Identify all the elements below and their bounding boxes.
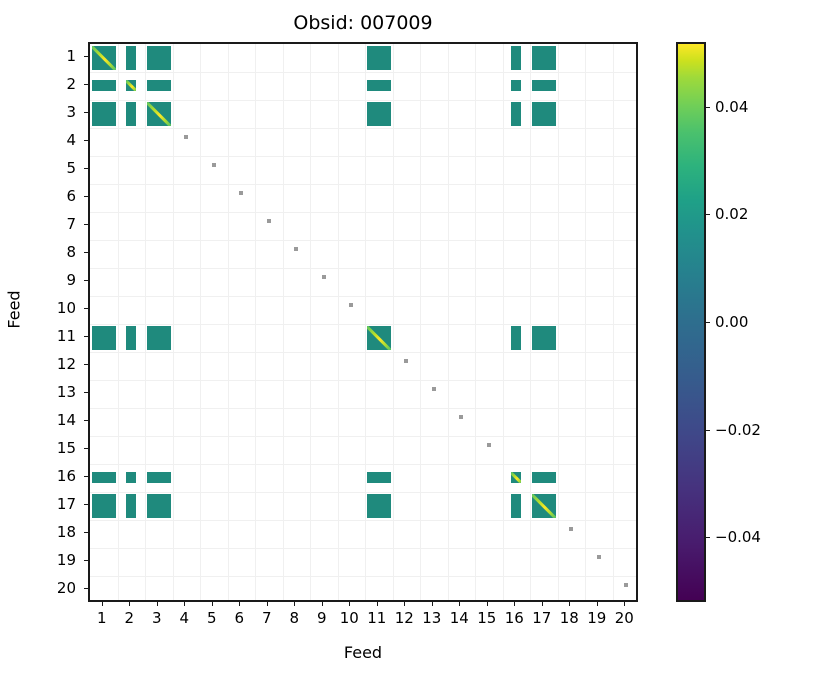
x-tick-label: 14 [450,609,469,627]
y-tick-label: 13 [26,383,76,401]
x-tick-mark [542,602,543,606]
matrix-cell [147,494,171,519]
matrix-cell-diagonal-small [432,387,436,391]
gridline-horizontal [90,296,636,297]
gridline-horizontal [90,548,636,549]
matrix-cell-diagonal-small [239,191,243,195]
y-tick-label: 14 [26,411,76,429]
gridline-horizontal [90,156,636,157]
colorbar-tick-mark [706,214,710,215]
x-tick-label: 6 [234,609,244,627]
x-tick-label: 11 [367,609,386,627]
x-tick-mark [377,602,378,606]
x-tick-mark [239,602,240,606]
x-tick-mark [294,602,295,606]
x-tick-label: 16 [505,609,524,627]
y-tick-label: 1 [26,47,76,65]
matrix-cell-diagonal-small [569,527,573,531]
matrix-cell-diagonal-small [267,219,271,223]
matrix-cell [92,80,116,91]
y-tick-mark [84,364,88,365]
gridline-horizontal [90,184,636,185]
y-tick-label: 16 [26,467,76,485]
x-tick-label: 15 [477,609,496,627]
matrix-cell-diagonal [367,326,391,351]
y-tick-mark [84,280,88,281]
matrix-cell [92,326,116,351]
matrix-cell-diagonal [92,46,116,71]
y-tick-mark [84,392,88,393]
y-tick-label: 19 [26,551,76,569]
matrix-cell [511,102,521,127]
x-tick-mark [514,602,515,606]
matrix-cell [367,46,391,71]
gridline-vertical [420,44,421,600]
gridline-vertical [585,44,586,600]
matrix-cell [367,80,391,91]
y-tick-mark [84,504,88,505]
figure-canvas: Obsid: 007009 12345678910111213141516171… [0,0,825,678]
matrix-cell [532,102,556,127]
x-tick-label: 19 [587,609,606,627]
y-tick-mark [84,420,88,421]
matrix-cell-diagonal-small [212,163,216,167]
x-tick-label: 12 [395,609,414,627]
gridline-vertical [393,44,394,600]
matrix-cell [147,46,171,71]
matrix-cell-diagonal [511,472,521,483]
y-tick-label: 2 [26,75,76,93]
gridline-vertical [338,44,339,600]
matrix-cell-diagonal-small [404,359,408,363]
matrix-cell [532,80,556,91]
y-tick-mark [84,112,88,113]
gridline-horizontal [90,240,636,241]
y-tick-mark [84,140,88,141]
gridline-vertical [255,44,256,600]
y-tick-label: 17 [26,495,76,513]
y-tick-mark [84,252,88,253]
colorbar-tick-mark [706,430,710,431]
gridline-horizontal [90,520,636,521]
page-title: Obsid: 007009 [88,12,638,34]
x-tick-mark [349,602,350,606]
matrix-cell-diagonal-small [624,583,628,587]
gridline-vertical [228,44,229,600]
colorbar-tick-label: −0.02 [715,421,761,439]
y-tick-mark [84,308,88,309]
y-tick-label: 18 [26,523,76,541]
x-tick-label: 1 [97,609,107,627]
gridline-vertical [475,44,476,600]
y-tick-label: 20 [26,579,76,597]
matrix-cell [511,46,521,71]
gridline-vertical [558,44,559,600]
matrix-cell [92,494,116,519]
matrix-cell-diagonal-small [184,135,188,139]
gridline-vertical [448,44,449,600]
y-tick-mark [84,560,88,561]
x-tick-mark [267,602,268,606]
gridline-horizontal [90,576,636,577]
x-tick-label: 17 [532,609,551,627]
matrix-cell [367,102,391,127]
matrix-cell [147,326,171,351]
matrix-cell [367,494,391,519]
y-tick-mark [84,532,88,533]
y-tick-label: 8 [26,243,76,261]
gridline-horizontal [90,128,636,129]
matrix-cell [532,46,556,71]
matrix-cell [126,326,136,351]
self-correlation-diagonal [511,472,521,483]
matrix-cell [126,102,136,127]
x-tick-mark [184,602,185,606]
y-tick-label: 6 [26,187,76,205]
matrix-cell-diagonal-small [294,247,298,251]
gridline-horizontal [90,436,636,437]
y-tick-label: 12 [26,355,76,373]
x-tick-label: 4 [179,609,189,627]
colorbar-tick-mark [706,322,710,323]
self-correlation-diagonal [147,102,171,127]
y-tick-label: 3 [26,103,76,121]
self-correlation-diagonal [532,494,556,519]
self-correlation-diagonal [126,80,136,91]
x-tick-label: 18 [560,609,579,627]
colorbar-tick-label: 0.00 [715,313,748,331]
y-tick-mark [84,476,88,477]
y-axis-label: Feed [5,260,24,360]
matrix-cell [126,46,136,71]
x-tick-mark [157,602,158,606]
x-tick-label: 20 [615,609,634,627]
self-correlation-diagonal [367,326,391,351]
matrix-cell [92,102,116,127]
matrix-cell-diagonal-small [349,303,353,307]
y-tick-mark [84,224,88,225]
gridline-horizontal [90,408,636,409]
x-tick-label: 9 [317,609,327,627]
x-tick-label: 13 [422,609,441,627]
correlation-matrix-plot[interactable] [88,42,638,602]
matrix-cell-diagonal [126,80,136,91]
x-tick-mark [597,602,598,606]
colorbar[interactable] [676,42,706,602]
matrix-cell-diagonal-small [322,275,326,279]
y-tick-mark [84,56,88,57]
x-tick-label: 5 [207,609,217,627]
y-tick-mark [84,336,88,337]
matrix-cell-diagonal [147,102,171,127]
gridline-vertical [310,44,311,600]
gridline-horizontal [90,380,636,381]
y-tick-mark [84,196,88,197]
gridline-horizontal [90,352,636,353]
x-tick-mark [212,602,213,606]
matrix-cell [367,472,391,483]
y-tick-label: 5 [26,159,76,177]
matrix-cell [511,494,521,519]
y-tick-mark [84,168,88,169]
gridline-vertical [283,44,284,600]
x-tick-mark [102,602,103,606]
x-tick-mark [129,602,130,606]
y-tick-label: 4 [26,131,76,149]
matrix-cell-diagonal-small [487,443,491,447]
x-tick-mark [624,602,625,606]
x-tick-label: 3 [152,609,162,627]
gridline-vertical [200,44,201,600]
x-tick-label: 7 [262,609,272,627]
y-tick-label: 10 [26,299,76,317]
matrix-cell [147,80,171,91]
matrix-cell-diagonal-small [597,555,601,559]
y-tick-label: 11 [26,327,76,345]
matrix-cell [126,472,136,483]
gridline-horizontal [90,268,636,269]
colorbar-tick-label: −0.04 [715,528,761,546]
matrix-cell [532,326,556,351]
colorbar-tick-mark [706,107,710,108]
x-tick-mark [487,602,488,606]
y-tick-mark [84,588,88,589]
x-tick-mark [459,602,460,606]
matrix-cell [92,472,116,483]
matrix-cell [126,494,136,519]
matrix-cell [511,326,521,351]
matrix-cell-diagonal-small [459,415,463,419]
matrix-cell [511,80,521,91]
matrix-cell [532,472,556,483]
y-tick-label: 7 [26,215,76,233]
self-correlation-diagonal [92,46,116,71]
x-tick-mark [322,602,323,606]
x-tick-label: 10 [340,609,359,627]
gridline-horizontal [90,212,636,213]
y-tick-label: 9 [26,271,76,289]
y-tick-mark [84,84,88,85]
colorbar-tick-label: 0.02 [715,205,748,223]
x-tick-label: 8 [289,609,299,627]
y-tick-mark [84,448,88,449]
x-tick-label: 2 [124,609,134,627]
x-tick-mark [569,602,570,606]
gridline-horizontal [90,464,636,465]
colorbar-tick-label: 0.04 [715,98,748,116]
y-tick-label: 15 [26,439,76,457]
matrix-cell [147,472,171,483]
x-tick-mark [432,602,433,606]
gridline-vertical [613,44,614,600]
x-axis-label: Feed [88,643,638,662]
colorbar-tick-mark [706,537,710,538]
gridline-vertical [503,44,504,600]
x-tick-mark [404,602,405,606]
matrix-cell-diagonal [532,494,556,519]
